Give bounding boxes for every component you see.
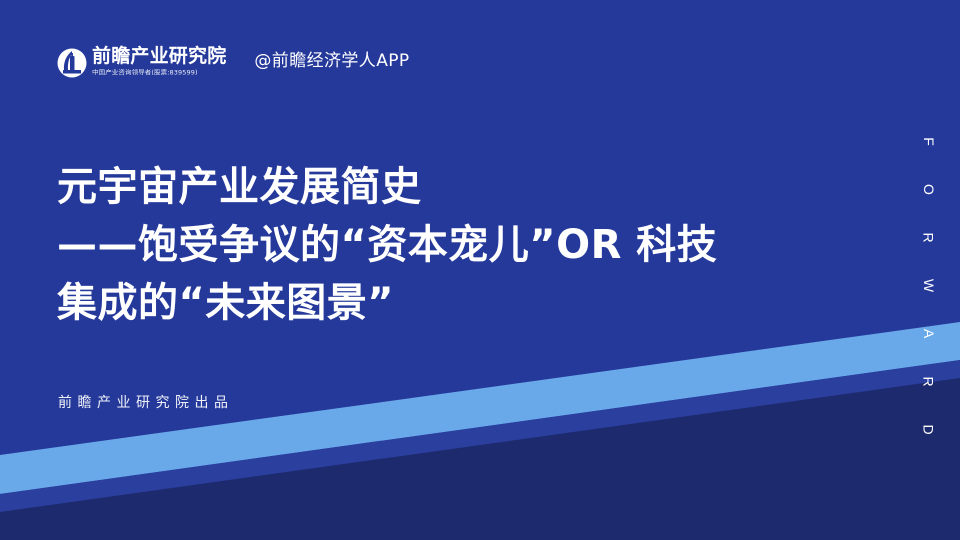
slide-byline: 前瞻产业研究院出品 [58,393,234,413]
title-line-3: 集成的“未来图景” [57,274,847,332]
mid-blue-diagonal-band [0,360,960,540]
forward-vertical-wordmark: F O R W A R D [916,118,942,454]
forward-letter-f: F [905,137,953,147]
forward-letter-d: D [905,424,953,435]
brand-name: 前瞻产业研究院 [92,46,226,67]
brand-logo: 前瞻产业研究院 中国产业咨询领导者(股票:839599) [57,46,226,78]
slide-title: 元宇宙产业发展简史 ——饱受争议的“资本宠儿”OR 科技 集成的“未来图景” [57,158,847,332]
presentation-cover-slide: 前瞻产业研究院 中国产业咨询领导者(股票:839599) @前瞻经济学人APP … [0,0,960,540]
forward-letter-w: W [905,279,953,293]
title-line-1: 元宇宙产业发展简史 [57,158,847,216]
app-handle-label: @前瞻经济学人APP [254,51,409,71]
brand-logo-text: 前瞻产业研究院 中国产业咨询领导者(股票:839599) [92,46,226,78]
forward-letter-r2: R [905,376,953,387]
slide-header: 前瞻产业研究院 中国产业咨询领导者(股票:839599) @前瞻经济学人APP [57,38,410,86]
forward-letter-o: O [905,184,953,196]
brand-tagline: 中国产业咨询领导者(股票:839599) [92,69,226,78]
title-line-2: ——饱受争议的“资本宠儿”OR 科技 [57,216,847,274]
forward-letter-a: A [905,329,953,339]
prospective-circle-logo-icon [57,48,87,78]
forward-letter-r1: R [905,232,953,243]
